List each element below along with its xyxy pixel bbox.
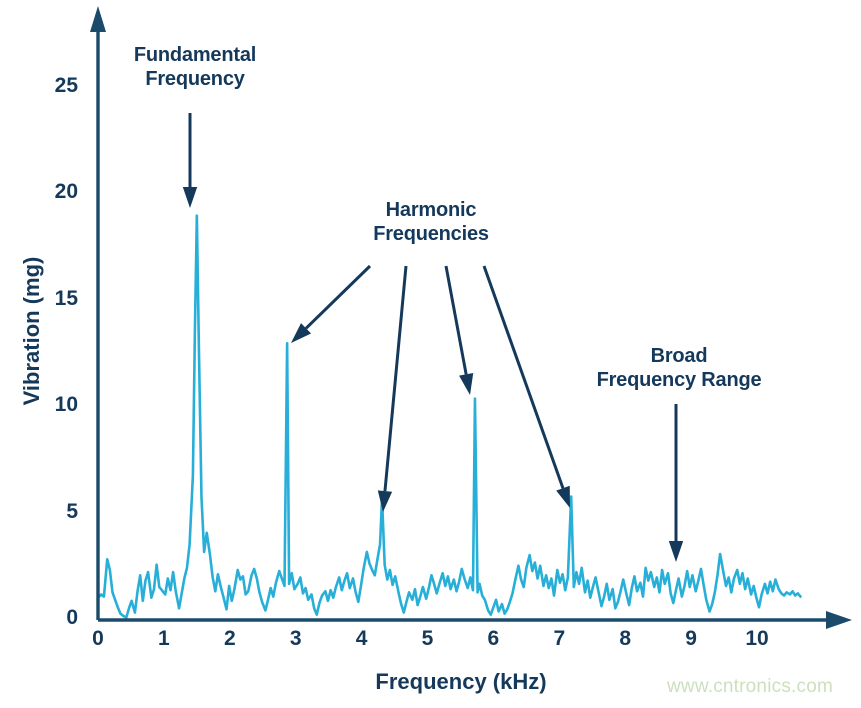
x-tick-8: 8 (605, 627, 645, 651)
site-watermark: www.cntronics.com (667, 676, 833, 698)
x-tick-0: 0 (78, 627, 118, 651)
x-tick-10: 10 (737, 627, 777, 651)
y-tick-5: 5 (38, 500, 78, 524)
annotation-broad-frequency-range: Broad Frequency Range (560, 345, 798, 392)
x-tick-7: 7 (539, 627, 579, 651)
x-tick-3: 3 (276, 627, 316, 651)
y-axis-title: Vibration (mg) (19, 236, 45, 426)
annotation-harmonic-frequencies: Harmonic Frequencies (337, 199, 525, 246)
x-tick-5: 5 (408, 627, 448, 651)
x-axis-title: Frequency (kHz) (271, 669, 651, 695)
x-tick-4: 4 (342, 627, 382, 651)
x-tick-6: 6 (473, 627, 513, 651)
y-tick-0: 0 (38, 606, 78, 630)
y-tick-25: 25 (38, 74, 78, 98)
x-tick-9: 9 (671, 627, 711, 651)
x-tick-1: 1 (144, 627, 184, 651)
annotation-fundamental-frequency: Fundamental Frequency (104, 44, 286, 91)
x-tick-2: 2 (210, 627, 250, 651)
annotation-arrows (183, 113, 683, 562)
y-tick-20: 20 (38, 180, 78, 204)
y-axis (90, 6, 106, 620)
